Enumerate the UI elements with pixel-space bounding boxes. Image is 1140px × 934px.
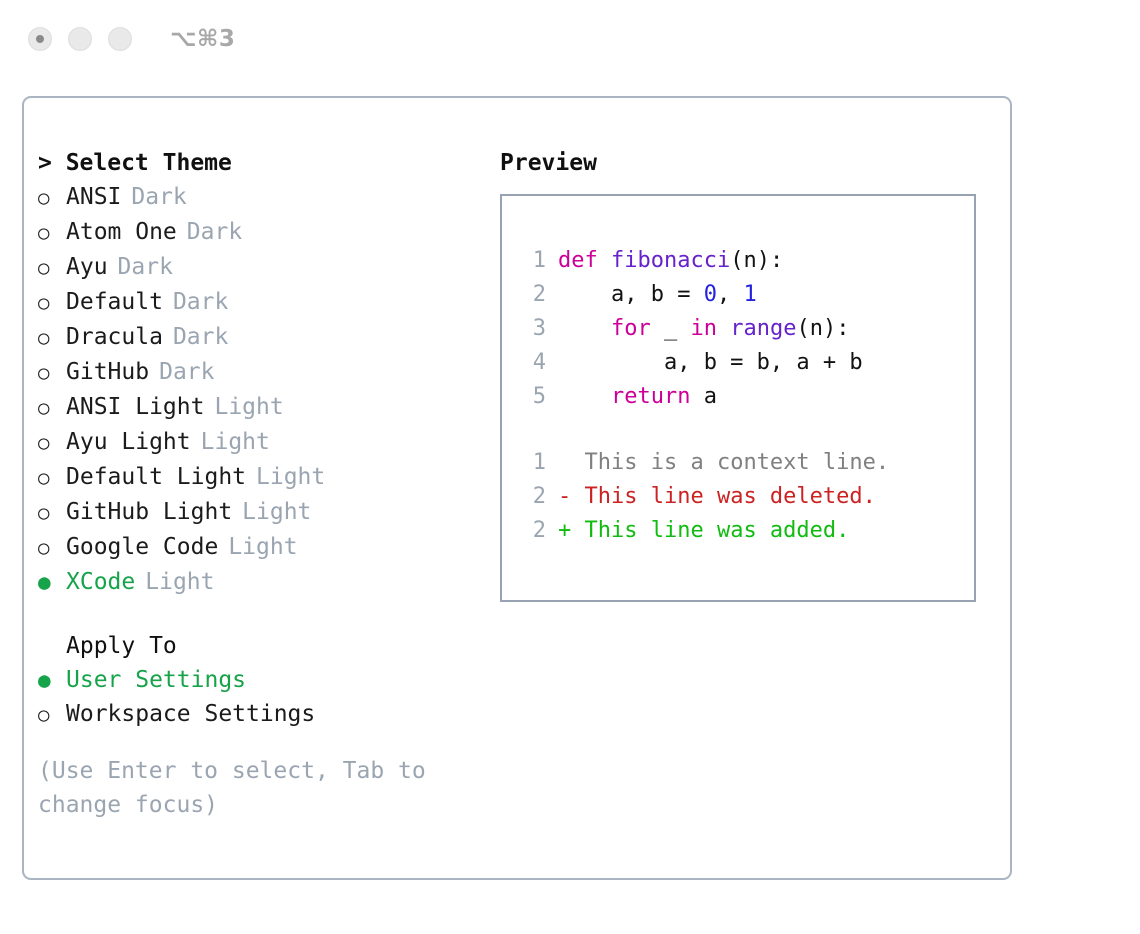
code-token: fibonacci xyxy=(611,244,730,278)
apply-to-option-name: User Settings xyxy=(66,663,246,697)
theme-option-name: XCode xyxy=(66,565,135,599)
radio-selected-icon: ● xyxy=(38,663,66,697)
theme-list-column: > Select Theme ○ANSIDark○Atom OneDark○Ay… xyxy=(38,146,478,822)
theme-option-tag: Dark xyxy=(118,250,173,284)
diff-marker: - xyxy=(558,480,585,514)
theme-option[interactable]: ○Google CodeLight xyxy=(38,530,478,565)
diff-line-text: This line was added. xyxy=(585,514,850,548)
theme-option-tag: Light xyxy=(256,460,325,494)
theme-option[interactable]: ○Default LightLight xyxy=(38,460,478,495)
theme-option-tag: Light xyxy=(214,390,283,424)
diff-line-number: 2 xyxy=(516,480,546,514)
diff-line: 1 This is a context line. xyxy=(516,446,974,480)
code-token: a xyxy=(704,380,717,414)
code-line-number: 1 xyxy=(516,244,546,278)
apply-to-list: ●User Settings○Workspace Settings xyxy=(38,663,478,732)
theme-option-tag: Dark xyxy=(131,180,186,214)
apply-to-heading: Apply To xyxy=(38,629,478,663)
code-token: (n): xyxy=(730,244,783,278)
code-token: a, b = xyxy=(558,278,704,312)
theme-option[interactable]: ●XCodeLight xyxy=(38,565,478,599)
code-token: range xyxy=(730,312,796,346)
theme-option-name: Ayu xyxy=(66,250,108,284)
theme-option-name: Default Light xyxy=(66,460,246,494)
theme-option-name: GitHub xyxy=(66,355,149,389)
radio-unselected-icon: ○ xyxy=(38,356,66,390)
code-token: 1 xyxy=(743,278,756,312)
theme-option-name: Default xyxy=(66,285,163,319)
code-line: 2 a, b = 0, 1 xyxy=(516,278,974,312)
radio-unselected-icon: ○ xyxy=(38,496,66,530)
diff-line: 2+ This line was added. xyxy=(516,514,974,548)
code-token: return xyxy=(558,380,704,414)
code-token: in xyxy=(690,312,730,346)
code-token: _ xyxy=(664,312,691,346)
apply-to-option-name: Workspace Settings xyxy=(66,697,315,731)
theme-option-name: Google Code xyxy=(66,530,218,564)
code-line-number: 3 xyxy=(516,312,546,346)
radio-unselected-icon: ○ xyxy=(38,216,66,250)
preview-box: 1def fibonacci(n):2 a, b = 0, 13 for _ i… xyxy=(500,194,976,602)
theme-picker-window: ⌥⌘3 > Select Theme ○ANSIDark○Atom OneDar… xyxy=(0,0,1140,934)
code-token: def xyxy=(558,244,611,278)
theme-option[interactable]: ○Ayu LightLight xyxy=(38,425,478,460)
window-dot-active-indicator xyxy=(36,35,44,43)
radio-unselected-icon: ○ xyxy=(38,461,66,495)
diff-line-number: 2 xyxy=(516,514,546,548)
code-token: , xyxy=(717,278,744,312)
theme-list: ○ANSIDark○Atom OneDark○AyuDark○DefaultDa… xyxy=(38,180,478,599)
code-line: 1def fibonacci(n): xyxy=(516,244,974,278)
radio-unselected-icon: ○ xyxy=(38,391,66,425)
code-line: 3 for _ in range(n): xyxy=(516,312,974,346)
radio-unselected-icon: ○ xyxy=(38,321,66,355)
theme-option-tag: Light xyxy=(145,565,214,599)
theme-option-tag: Dark xyxy=(159,355,214,389)
code-token: (n): xyxy=(796,312,849,346)
code-token: for xyxy=(558,312,664,346)
select-theme-heading: > Select Theme xyxy=(38,146,478,180)
window-dot-active[interactable] xyxy=(28,27,52,51)
theme-option-name: ANSI Light xyxy=(66,390,204,424)
code-line-number: 4 xyxy=(516,346,546,380)
theme-option-tag: Light xyxy=(228,530,297,564)
code-line-number: 5 xyxy=(516,380,546,414)
theme-option-tag: Light xyxy=(201,425,270,459)
keyboard-shortcut-label: ⌥⌘3 xyxy=(170,26,235,52)
theme-option[interactable]: ○DraculaDark xyxy=(38,320,478,355)
code-token: a, b = b, a + b xyxy=(558,346,863,380)
apply-to-option[interactable]: ●User Settings xyxy=(38,663,478,697)
theme-option-tag: Dark xyxy=(187,215,242,249)
apply-to-option[interactable]: ○Workspace Settings xyxy=(38,697,478,732)
theme-option-tag: Dark xyxy=(173,320,228,354)
diff-marker: + xyxy=(558,514,585,548)
code-line: 5 return a xyxy=(516,380,974,414)
theme-option-name: GitHub Light xyxy=(66,495,232,529)
code-sample: 1def fibonacci(n):2 a, b = 0, 13 for _ i… xyxy=(516,244,974,414)
window-dot-2[interactable] xyxy=(68,27,92,51)
diff-line-text: This line was deleted. xyxy=(585,480,876,514)
diff-line-text: This is a context line. xyxy=(585,446,890,480)
diff-line: 2- This line was deleted. xyxy=(516,480,974,514)
code-line-number: 2 xyxy=(516,278,546,312)
diff-marker xyxy=(558,446,585,480)
keyboard-hint: (Use Enter to select, Tab to change focu… xyxy=(38,754,448,822)
preview-heading: Preview xyxy=(500,146,1000,180)
radio-unselected-icon: ○ xyxy=(38,181,66,215)
radio-unselected-icon: ○ xyxy=(38,286,66,320)
theme-option[interactable]: ○ANSI LightLight xyxy=(38,390,478,425)
theme-option-tag: Dark xyxy=(173,285,228,319)
code-token: 0 xyxy=(704,278,717,312)
theme-option-name: Dracula xyxy=(66,320,163,354)
theme-option-name: Atom One xyxy=(66,215,177,249)
radio-unselected-icon: ○ xyxy=(38,426,66,460)
title-bar: ⌥⌘3 xyxy=(0,0,1140,78)
theme-option-tag: Light xyxy=(242,495,311,529)
code-line: 4 a, b = b, a + b xyxy=(516,346,974,380)
radio-unselected-icon: ○ xyxy=(38,251,66,285)
theme-option[interactable]: ○AyuDark xyxy=(38,250,478,285)
theme-option[interactable]: ○GitHubDark xyxy=(38,355,478,390)
theme-option-name: Ayu Light xyxy=(66,425,191,459)
window-dot-3[interactable] xyxy=(108,27,132,51)
radio-unselected-icon: ○ xyxy=(38,698,66,732)
preview-column: Preview 1def fibonacci(n):2 a, b = 0, 13… xyxy=(500,146,1000,602)
theme-option[interactable]: ○Atom OneDark xyxy=(38,215,478,250)
diff-line-number: 1 xyxy=(516,446,546,480)
theme-option-name: ANSI xyxy=(66,180,121,214)
theme-option[interactable]: ○ANSIDark xyxy=(38,180,478,215)
theme-option[interactable]: ○GitHub LightLight xyxy=(38,495,478,530)
main-panel: > Select Theme ○ANSIDark○Atom OneDark○Ay… xyxy=(22,96,1012,880)
theme-option[interactable]: ○DefaultDark xyxy=(38,285,478,320)
radio-selected-icon: ● xyxy=(38,565,66,599)
diff-sample: 1 This is a context line.2- This line wa… xyxy=(516,446,974,548)
radio-unselected-icon: ○ xyxy=(38,531,66,565)
